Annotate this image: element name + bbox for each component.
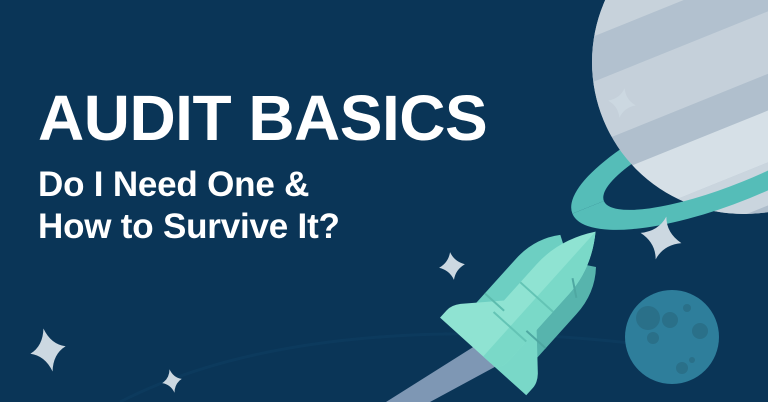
page-subtitle-line-2: How to Survive It? [38,206,638,248]
moon-crater [676,362,688,374]
page-subtitle: Do I Need One & How to Survive It? [38,164,638,248]
moon-crater [683,304,691,312]
banner-text-block: AUDIT BASICS Do I Need One & How to Surv… [38,86,638,248]
moon [625,290,719,384]
page-subtitle-line-1: Do I Need One & [38,164,638,206]
page-title: AUDIT BASICS [38,86,638,150]
moon-crater [647,332,659,344]
moon-crater [636,306,660,330]
moon-crater [662,312,678,328]
moon-crater [689,357,695,363]
moon-crater [692,323,708,339]
audit-basics-banner: AUDIT BASICS Do I Need One & How to Surv… [0,0,768,402]
